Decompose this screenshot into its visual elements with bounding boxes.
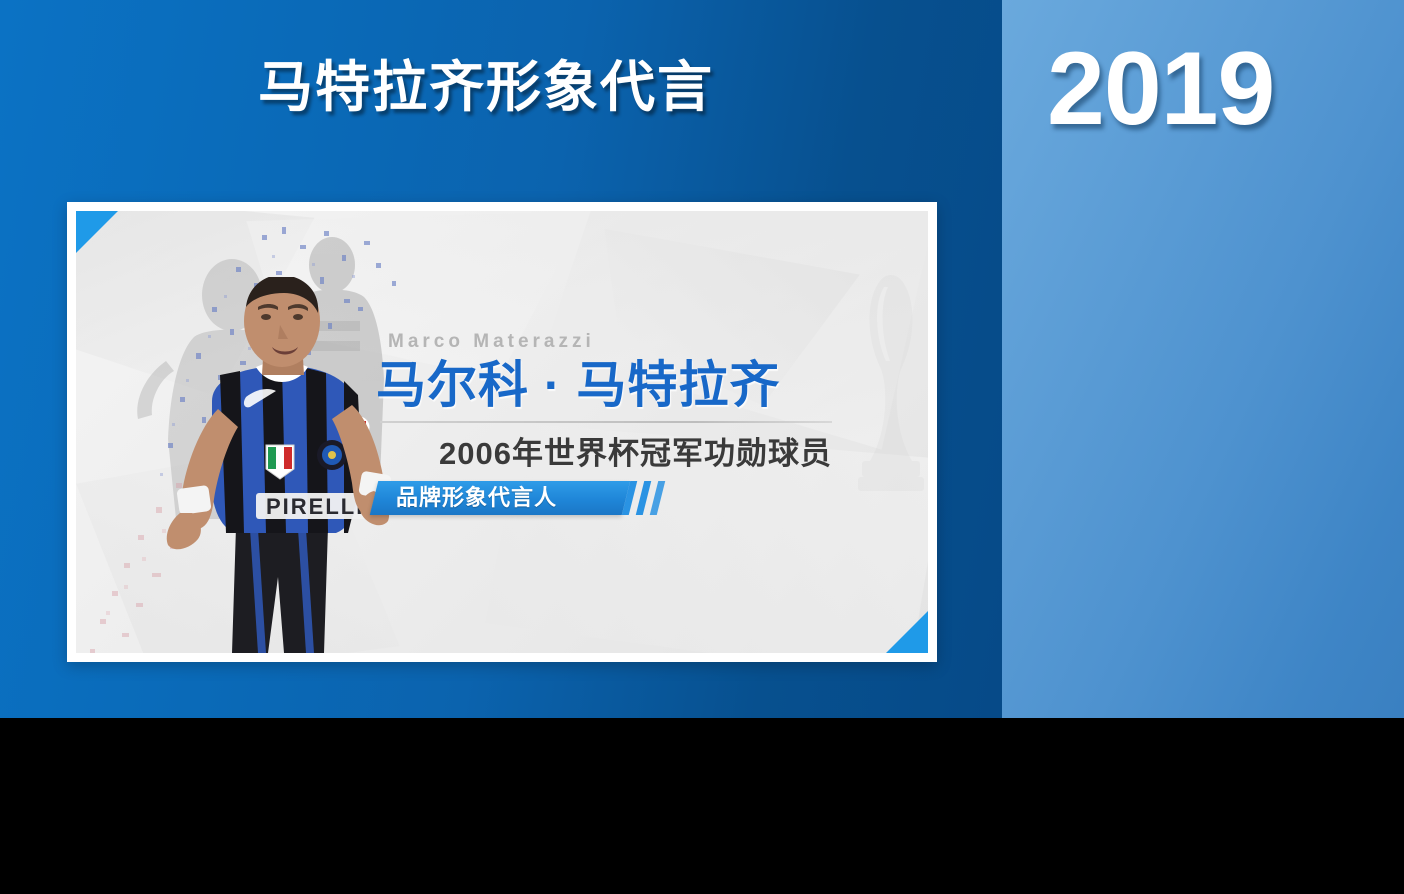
- player-info-block: Marco Materazzi 马尔科 · 马特拉齐 2006年世界杯冠军功勋球…: [376, 331, 836, 473]
- name-divider: [380, 421, 832, 423]
- player-subtitle: 2006年世界杯冠军功勋球员: [376, 428, 836, 473]
- world-cup-trophy-icon: [836, 241, 928, 541]
- ribbon-label: 品牌形象代言人: [374, 481, 626, 515]
- page-title: 马特拉齐形象代言: [258, 60, 714, 115]
- endorsement-card-frame: PIRELLI: [67, 202, 937, 662]
- svg-text:PIRELLI: PIRELLI: [266, 494, 364, 519]
- slide-stage: 马特拉齐形象代言 2019: [0, 0, 1404, 894]
- endorsement-card: PIRELLI: [76, 211, 928, 653]
- year-label: 2019: [1047, 37, 1274, 141]
- letterbox-band: [0, 718, 1404, 894]
- english-name: Marco Materazzi: [376, 331, 836, 353]
- corner-accent-bottom-right-icon: [886, 611, 928, 653]
- brand-ambassador-ribbon: 品牌形象代言人: [370, 481, 630, 515]
- slide: 马特拉齐形象代言 2019: [0, 0, 1404, 718]
- ribbon-slashes-icon: [620, 481, 686, 515]
- chinese-name: 马尔科 · 马特拉齐: [376, 359, 836, 412]
